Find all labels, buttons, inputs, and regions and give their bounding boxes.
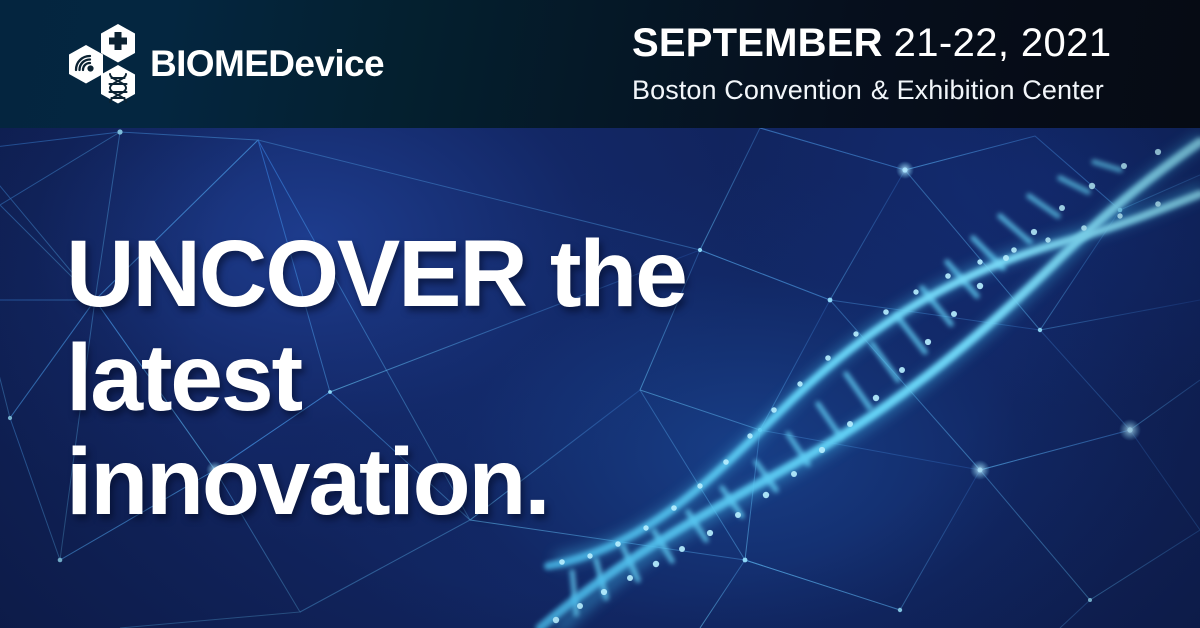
wifi-signal-icon	[69, 45, 103, 84]
hero-headline: UNCOVER the latest innovation.	[66, 222, 786, 534]
event-date: SEPTEMBER 21-22, 2021	[632, 18, 1111, 68]
event-venue-part-1: Boston Convention	[632, 75, 862, 105]
biomedevice-event-banner: BIOMEDevice SEPTEMBER 21-22, 2021 Boston…	[0, 0, 1200, 628]
event-details: SEPTEMBER 21-22, 2021 Boston Convention&…	[632, 18, 1111, 107]
biomedevice-logo[interactable]: BIOMEDevice	[63, 22, 384, 106]
logo-wordmark: BIOMEDevice	[150, 45, 384, 84]
event-days-year: 21-22, 2021	[894, 21, 1112, 65]
event-header-bar: BIOMEDevice SEPTEMBER 21-22, 2021 Boston…	[0, 0, 1200, 128]
medical-cross-icon	[101, 24, 135, 63]
headline-line-1: UNCOVER the	[66, 222, 786, 326]
event-venue: Boston Convention& Exhibition Center	[632, 73, 1111, 107]
dna-helix-icon	[101, 65, 135, 104]
event-venue-part-2: & Exhibition Center	[871, 75, 1104, 105]
headline-line-3: innovation.	[66, 430, 786, 534]
event-month: SEPTEMBER	[632, 21, 883, 65]
logo-hexagon-mark	[63, 22, 141, 106]
headline-line-2: latest	[66, 326, 786, 430]
